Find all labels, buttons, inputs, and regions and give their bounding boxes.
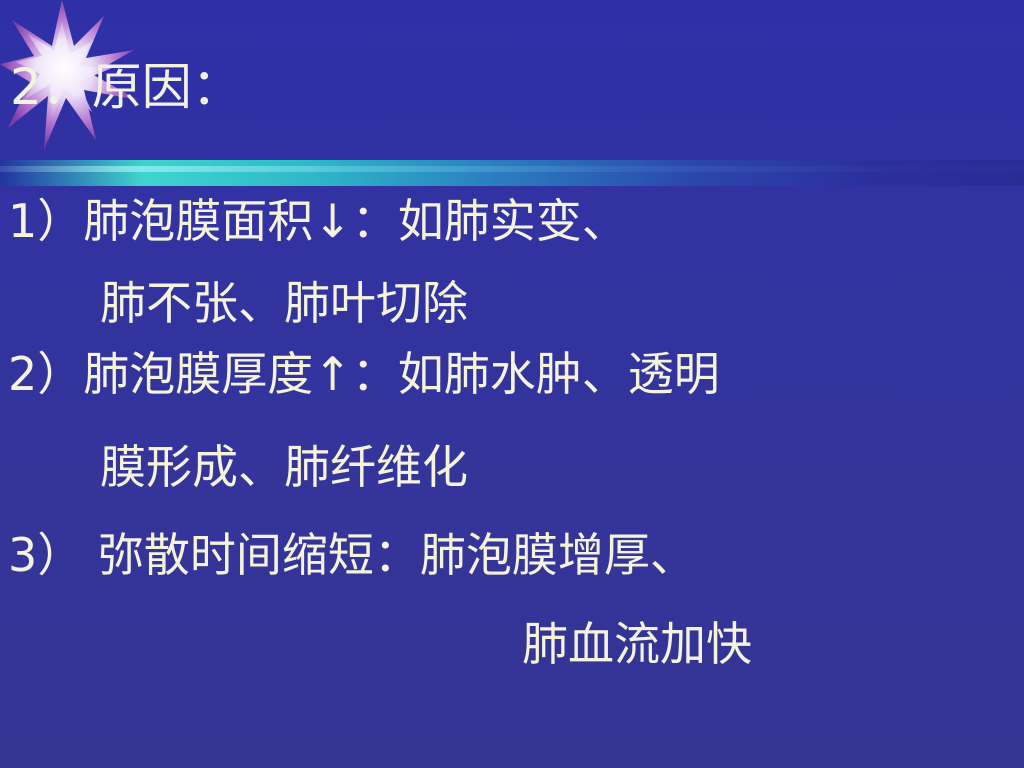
slide-canvas: 2．原因： 1）肺泡膜面积↓：如肺实变、 肺不张、肺叶切除 2）肺泡膜厚度↑：如… <box>0 0 1024 768</box>
body-line-2: 肺不张、肺叶切除 <box>100 280 468 326</box>
body-line-3: 2）肺泡膜厚度↑：如肺水肿、透明 <box>8 351 720 397</box>
divider-highlight <box>0 166 1024 172</box>
body-line-4: 膜形成、肺纤维化 <box>100 444 468 490</box>
page-title: 2．原因： <box>10 62 242 112</box>
body-line-1: 1）肺泡膜面积↓：如肺实变、 <box>8 198 628 244</box>
divider-bar <box>0 160 1024 186</box>
body-line-5: 3） 弥散时间缩短：肺泡膜增厚、 <box>8 532 696 578</box>
body-line-6: 肺血流加快 <box>522 621 752 667</box>
